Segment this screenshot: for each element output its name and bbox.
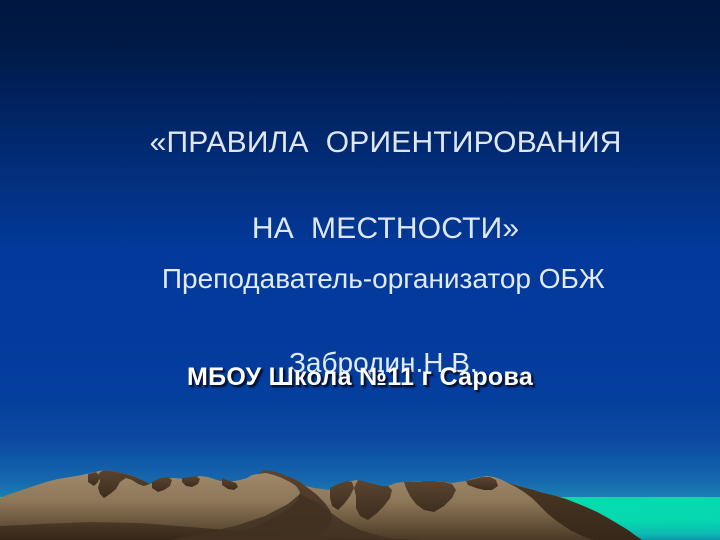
school-name-line: МБОУ Школа №11 г Сарова: [0, 363, 720, 392]
title-slide: «ПРАВИЛА ОРИЕНТИРОВАНИЯ НА МЕСТНОСТИ» Пр…: [0, 0, 720, 540]
slide-text-layer: «ПРАВИЛА ОРИЕНТИРОВАНИЯ НА МЕСТНОСТИ» Пр…: [0, 0, 720, 540]
title-line-1: «ПРАВИЛА ОРИЕНТИРОВАНИЯ: [150, 126, 622, 159]
slide-subtitle: Преподаватель-организатор ОБЖ Забродин.Н…: [0, 216, 720, 426]
subtitle-line-1: Преподаватель-организатор ОБЖ: [162, 263, 605, 294]
